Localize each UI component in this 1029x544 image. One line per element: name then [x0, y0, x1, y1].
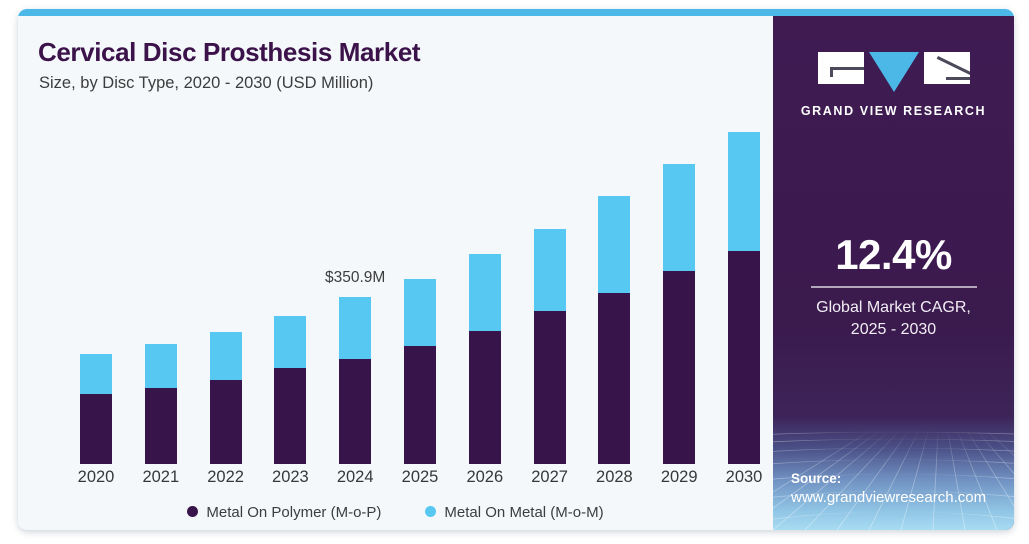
plot-area: $350.9M: [18, 16, 773, 476]
bar-segment[interactable]: [274, 316, 306, 368]
bar-segment[interactable]: [404, 346, 436, 464]
legend-label: Metal On Metal (M-o-M): [444, 504, 603, 521]
bar-segment[interactable]: [274, 368, 306, 464]
bar-segment[interactable]: [339, 359, 371, 464]
bar-segment[interactable]: [728, 251, 760, 464]
x-axis-tick: 2024: [337, 468, 374, 487]
cagr-value: 12.4%: [773, 234, 1014, 276]
bar-segment[interactable]: [80, 354, 112, 394]
x-axis-tick-labels: 2020202120222023202420252026202720282029…: [18, 468, 773, 494]
brand-logo: GRAND VIEW RESEARCH: [773, 39, 1014, 118]
bar-segment[interactable]: [210, 332, 242, 380]
bar-segment[interactable]: [210, 380, 242, 464]
bar-segment[interactable]: [339, 297, 371, 359]
x-axis-tick: 2021: [142, 468, 179, 487]
bar-segment[interactable]: [145, 344, 177, 388]
bar-group[interactable]: [145, 16, 177, 464]
chart-legend: Metal On Polymer (M-o-P)Metal On Metal (…: [18, 504, 773, 521]
cagr-caption-line2: 2025 - 2030: [773, 319, 1014, 341]
top-accent-bar: [18, 9, 1014, 16]
x-axis-tick: 2025: [402, 468, 439, 487]
x-axis-tick: 2027: [531, 468, 568, 487]
legend-item[interactable]: Metal On Metal (M-o-M): [425, 504, 603, 521]
source-url[interactable]: www.grandviewresearch.com: [791, 488, 1011, 508]
bar-segment[interactable]: [469, 254, 501, 331]
bar-group[interactable]: [339, 16, 371, 464]
brand-panel: GRAND VIEW RESEARCH 12.4% Global Market …: [773, 16, 1014, 530]
bar-segment[interactable]: [404, 279, 436, 346]
bar-group[interactable]: [404, 16, 436, 464]
bar-group[interactable]: [469, 16, 501, 464]
bar-group[interactable]: [274, 16, 306, 464]
bar-segment[interactable]: [534, 311, 566, 464]
stat-divider: [811, 286, 977, 288]
legend-color-swatch: [425, 506, 436, 517]
x-axis-tick: 2029: [661, 468, 698, 487]
bar-group[interactable]: [598, 16, 630, 464]
legend-label: Metal On Polymer (M-o-P): [206, 504, 381, 521]
bar-group[interactable]: [663, 16, 695, 464]
logo-r-icon: [924, 52, 970, 84]
x-axis-tick: 2020: [78, 468, 115, 487]
bar-group[interactable]: [728, 16, 760, 464]
logo-marks: [818, 52, 970, 92]
infographic-card: Cervical Disc Prosthesis Market Size, by…: [18, 9, 1014, 530]
bar-value-label: $350.9M: [325, 269, 385, 287]
bar-segment[interactable]: [598, 293, 630, 464]
bar-segment[interactable]: [469, 331, 501, 464]
bar-segment[interactable]: [728, 132, 760, 251]
logo-g-icon: [818, 52, 864, 84]
cagr-caption-line1: Global Market CAGR,: [773, 297, 1014, 319]
bar-segment[interactable]: [663, 164, 695, 271]
bar-segment[interactable]: [663, 271, 695, 464]
cagr-stat: 12.4% Global Market CAGR, 2025 - 2030: [773, 234, 1014, 340]
bar-group[interactable]: [210, 16, 242, 464]
bar-segment[interactable]: [534, 229, 566, 311]
bar-segment[interactable]: [145, 388, 177, 464]
x-axis-tick: 2028: [596, 468, 633, 487]
legend-item[interactable]: Metal On Polymer (M-o-P): [187, 504, 381, 521]
bar-segment[interactable]: [80, 394, 112, 464]
x-axis-tick: 2022: [207, 468, 244, 487]
bar-group[interactable]: [534, 16, 566, 464]
logo-wordmark: GRAND VIEW RESEARCH: [773, 104, 1014, 118]
chart-panel: Cervical Disc Prosthesis Market Size, by…: [18, 16, 773, 530]
bar-segment[interactable]: [598, 196, 630, 293]
logo-v-icon: [869, 52, 919, 92]
legend-color-swatch: [187, 506, 198, 517]
source-block: Source: www.grandviewresearch.com: [791, 470, 1011, 508]
bar-group[interactable]: [80, 16, 112, 464]
x-axis-tick: 2030: [726, 468, 763, 487]
source-label: Source:: [791, 470, 1011, 488]
x-axis-tick: 2026: [466, 468, 503, 487]
x-axis-tick: 2023: [272, 468, 309, 487]
